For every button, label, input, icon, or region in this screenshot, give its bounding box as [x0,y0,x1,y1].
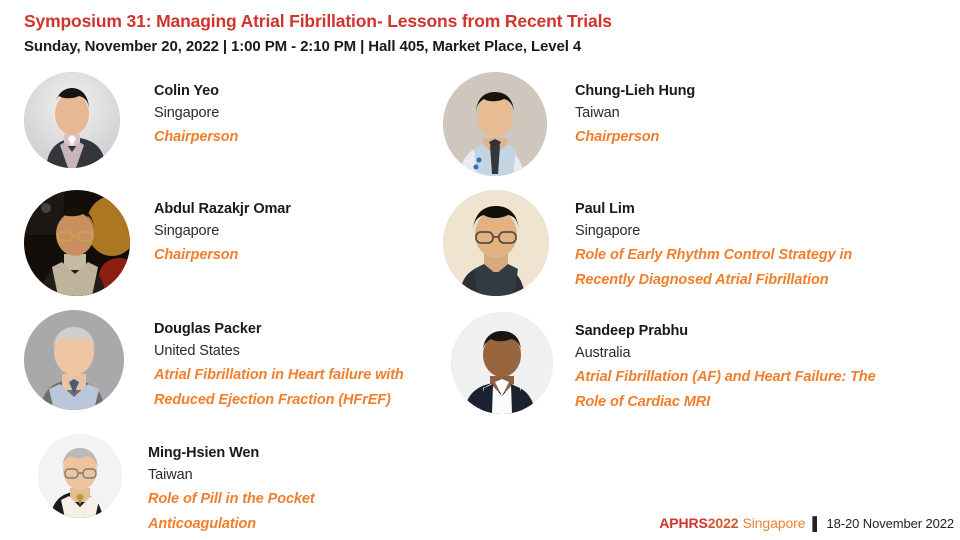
avatar [38,434,122,518]
avatar [443,190,549,296]
portrait-chung-lieh-hung-image [443,72,547,176]
speaker-country: Taiwan [575,101,695,125]
avatar [24,190,130,296]
portrait-douglas-packer-image [24,310,124,410]
speaker-role: Chairperson [154,125,238,150]
portrait-paul-lim-image [443,190,549,296]
speaker-country: United States [154,339,434,363]
avatar [24,310,124,410]
speaker-country: Singapore [575,219,905,243]
session-header: Symposium 31: Managing Atrial Fibrillati… [24,10,944,57]
portrait-colin-yeo-image [24,72,120,168]
speaker-role: Chairperson [154,243,291,268]
speaker-card[interactable]: Paul Lim Singapore Role of Early Rhythm … [443,190,905,296]
footer-brand-aphrs: APHRS [659,515,708,531]
session-details: Sunday, November 20, 2022 | 1:00 PM - 2:… [24,36,944,57]
footer-brand-city: Singapore [742,515,805,531]
speaker-role: Chairperson [575,125,695,150]
speaker-card[interactable]: Sandeep Prabhu Australia Atrial Fibrilla… [451,312,895,415]
portrait-abdul-razakjr-omar-image [24,190,130,296]
speaker-name: Douglas Packer [154,320,434,339]
speaker-role: Atrial Fibrillation in Heart failure wit… [154,363,434,413]
avatar [443,72,547,176]
footer-branding: APHRS 2022 Singapore ▌ 18-20 November 20… [659,515,954,531]
footer-separator-icon: ▌ [812,516,821,531]
speaker-country: Singapore [154,219,291,243]
footer-dates: 18-20 November 2022 [827,516,954,531]
speaker-card[interactable]: Ming-Hsien Wen Taiwan Role of Pill in th… [38,434,348,537]
speaker-card[interactable]: Colin Yeo Singapore Chairperson [24,72,238,168]
portrait-ming-hsien-wen-image [38,434,122,518]
speaker-name: Abdul Razakjr Omar [154,200,291,219]
speaker-country: Australia [575,341,895,365]
avatar [451,312,553,414]
speaker-role: Role of Pill in the Pocket Anticoagulati… [148,487,348,537]
speaker-country: Singapore [154,101,238,125]
speaker-card[interactable]: Chung-Lieh Hung Taiwan Chairperson [443,72,695,176]
speaker-name: Ming-Hsien Wen [148,444,348,463]
speaker-name: Paul Lim [575,200,905,219]
footer-brand-year: 2022 [708,515,739,531]
avatar [24,72,120,168]
speaker-card[interactable]: Douglas Packer United States Atrial Fibr… [24,310,434,413]
speaker-role: Role of Early Rhythm Control Strategy in… [575,243,905,293]
speaker-name: Chung-Lieh Hung [575,82,695,101]
page-title: Symposium 31: Managing Atrial Fibrillati… [24,10,944,32]
speaker-country: Taiwan [148,463,348,487]
speaker-role: Atrial Fibrillation (AF) and Heart Failu… [575,365,895,415]
speaker-name: Sandeep Prabhu [575,322,895,341]
speaker-card[interactable]: Abdul Razakjr Omar Singapore Chairperson [24,190,291,296]
portrait-sandeep-prabhu-image [451,312,553,414]
speaker-name: Colin Yeo [154,82,238,101]
